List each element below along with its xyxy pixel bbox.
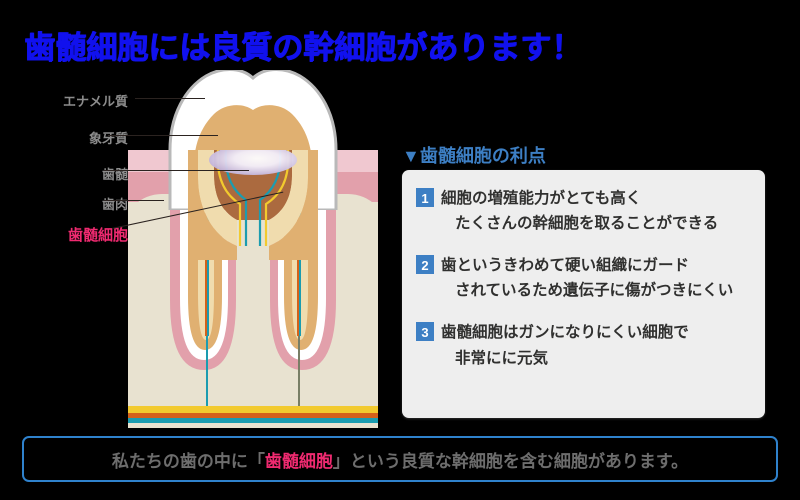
leader-line-enamel xyxy=(135,98,205,99)
summary-caption-text: 私たちの歯の中に「歯髄細胞」という良質な幹細胞を含む細胞があります。 xyxy=(112,447,688,472)
benefit-text-line1: 歯髄細胞はガンになりにくい細胞で xyxy=(441,320,689,345)
benefits-heading-label: 歯髄細胞の利点 xyxy=(420,146,546,166)
benefit-text-line2: たくさんの幹細胞を取ることができる xyxy=(441,211,718,236)
benefit-item: 2 歯というきわめて硬い組織にガード されているため遺伝子に傷がつきにくい xyxy=(416,253,751,303)
leader-line-gum xyxy=(104,200,164,201)
slide-canvas: 歯髄細胞には良質の幹細胞があります！ xyxy=(0,0,800,500)
benefit-text-line2: されているため遺伝子に傷がつきにくい xyxy=(441,278,733,303)
benefit-text-line2: 非常にに元気 xyxy=(441,346,689,371)
leader-line-pulp xyxy=(104,170,249,171)
benefit-number-badge: 3 xyxy=(416,322,434,341)
caption-text-after: 」という良質な幹細胞を含む細胞があります。 xyxy=(333,452,688,471)
benefit-item: 3 歯髄細胞はガンになりにくい細胞で 非常にに元気 xyxy=(416,320,751,370)
summary-caption-box: 私たちの歯の中に「歯髄細胞」という良質な幹細胞を含む細胞があります。 xyxy=(22,436,778,482)
label-dentin: 象牙質 xyxy=(89,128,128,147)
benefit-text-line1: 歯というきわめて硬い組織にガード xyxy=(441,253,733,278)
leader-line-dentin xyxy=(108,135,218,136)
benefits-panel: 1 細胞の増殖能力がとても高く たくさんの幹細胞を取ることができる 2 歯という… xyxy=(402,170,765,418)
benefit-item: 1 細胞の増殖能力がとても高く たくさんの幹細胞を取ることができる xyxy=(416,186,751,236)
label-enamel: エナメル質 xyxy=(63,91,128,110)
caption-text-before: 私たちの歯の中に「 xyxy=(112,452,265,471)
benefit-number-badge: 1 xyxy=(416,188,434,207)
page-title: 歯髄細胞には良質の幹細胞があります！ xyxy=(24,22,582,67)
benefit-text-line1: 細胞の増殖能力がとても高く xyxy=(441,186,718,211)
label-pulp: 歯髄 xyxy=(102,164,128,183)
pulp-chamber-detail xyxy=(128,150,378,260)
triangle-marker-icon: ▼ xyxy=(402,146,420,166)
label-gum: 歯肉 xyxy=(102,194,128,213)
vein-bundle-teal xyxy=(128,418,378,423)
nerve-bundle-yellow xyxy=(128,406,378,413)
benefit-number-badge: 2 xyxy=(416,255,434,274)
caption-text-highlight: 歯髄細胞 xyxy=(265,452,333,471)
benefits-heading: ▼歯髄細胞の利点 xyxy=(402,142,546,168)
